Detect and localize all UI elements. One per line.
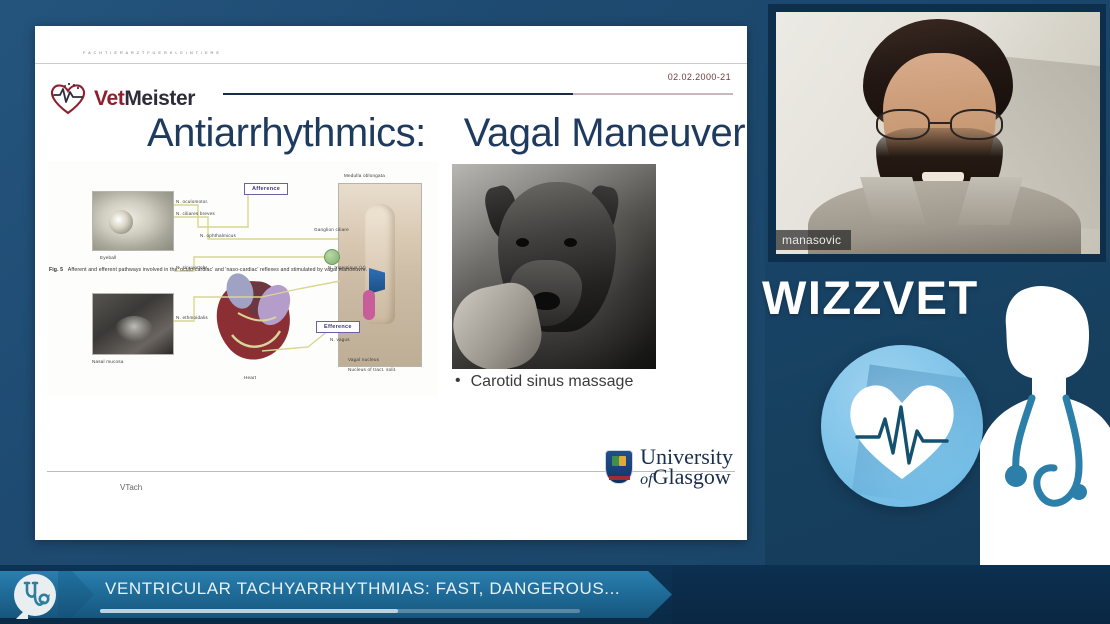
bullet-text: Carotid sinus massage (471, 371, 634, 393)
bottom-banner: VENTRICULAR TACHYARRHYTHMIAS: FAST, DANG… (0, 565, 1110, 624)
nerve-label-11: Eyeball (100, 255, 116, 260)
anatomical-pathway-figure: Afference Efference N. oculomotor. N. ci… (48, 161, 438, 396)
vetmeister-logo: VetMeister (47, 81, 195, 115)
nerve-label-4: Ganglion ciliare (314, 227, 349, 232)
webcam-video[interactable]: manasovic (776, 12, 1100, 254)
banner-right-fill (672, 565, 1110, 624)
nerve-label-12: Nasal mucosa (92, 359, 124, 364)
bullet-marker-icon: • (455, 371, 461, 393)
nerve-label-1: N. ciliares breves (176, 211, 215, 216)
banner-title: VENTRICULAR TACHYARRHYTHMIAS: FAST, DANG… (105, 579, 620, 599)
nerve-label-6: N. ethmoidalis (176, 315, 208, 320)
doctor-silhouette-icon (966, 280, 1110, 580)
nerve-label-8: Vagal nucleus (348, 357, 379, 362)
progress-bar-fill (100, 609, 398, 613)
logo-word-meister: Meister (124, 87, 195, 110)
slide-bullet-item: • Carotid sinus massage (455, 371, 705, 393)
label-box-efference: Efference (316, 321, 360, 333)
slide-footer-note: VTach (120, 483, 142, 492)
nerve-label-0: N. oculomotor. (176, 199, 208, 204)
slide-title-part2: Vagal Maneuver (464, 111, 745, 155)
nerve-label-10: Medulla oblongata (344, 173, 385, 178)
webinar-player: VetMeister F A C H T I E R A R Z T F U E… (0, 0, 1110, 624)
stethoscope-icon (14, 574, 56, 616)
ciliary-ganglion-icon (324, 249, 340, 265)
participant-name-label: manasovic (776, 230, 851, 250)
progress-bar[interactable] (100, 609, 580, 613)
figure-caption: Fig. 5 Afferent and efferent pathways in… (49, 266, 427, 274)
presentation-slide[interactable]: VetMeister F A C H T I E R A R Z T F U E… (35, 26, 747, 540)
vetmeister-tagline: F A C H T I E R A R Z T F U E R K L E I … (83, 50, 220, 55)
nerve-label-2: N. ophthalmicus (200, 233, 236, 238)
glasgow-crest-icon (605, 450, 633, 484)
glasses-icon (876, 109, 1002, 140)
university-line2: Glasgow (653, 464, 731, 489)
dog-photo (452, 164, 656, 369)
wizzvet-wordmark: WIZZVET (762, 270, 979, 325)
figure-caption-number: Fig. 5 (49, 267, 63, 273)
nerve-label-13: Heart (244, 375, 256, 380)
heart-ecg-icon (821, 345, 983, 507)
vetmeister-wordmark: VetMeister (94, 88, 195, 109)
university-logo: University ofGlasgow (605, 447, 733, 488)
figure-caption-text: Afferent and efferent pathways involved … (68, 267, 367, 273)
logo-rule-light (573, 93, 733, 95)
heart-pulse-icon (47, 81, 89, 115)
label-box-afference: Afference (244, 183, 288, 195)
logo-word-vet: Vet (94, 87, 124, 110)
logo-rule-dark (223, 93, 573, 95)
nerve-label-7: N. vagus (330, 337, 350, 342)
slide-title-part1: Antiarrhythmics: (147, 111, 426, 155)
slide-top-divider (35, 63, 747, 64)
webcam-panel[interactable]: manasovic (768, 4, 1106, 262)
slide-title: Antiarrhythmics:Vagal Maneuver (147, 111, 747, 156)
university-of: of (640, 471, 652, 488)
nerve-label-9: Nucleus of tract. solit. (348, 367, 397, 372)
slide-date-code: 02.02.2000-21 (668, 72, 731, 82)
